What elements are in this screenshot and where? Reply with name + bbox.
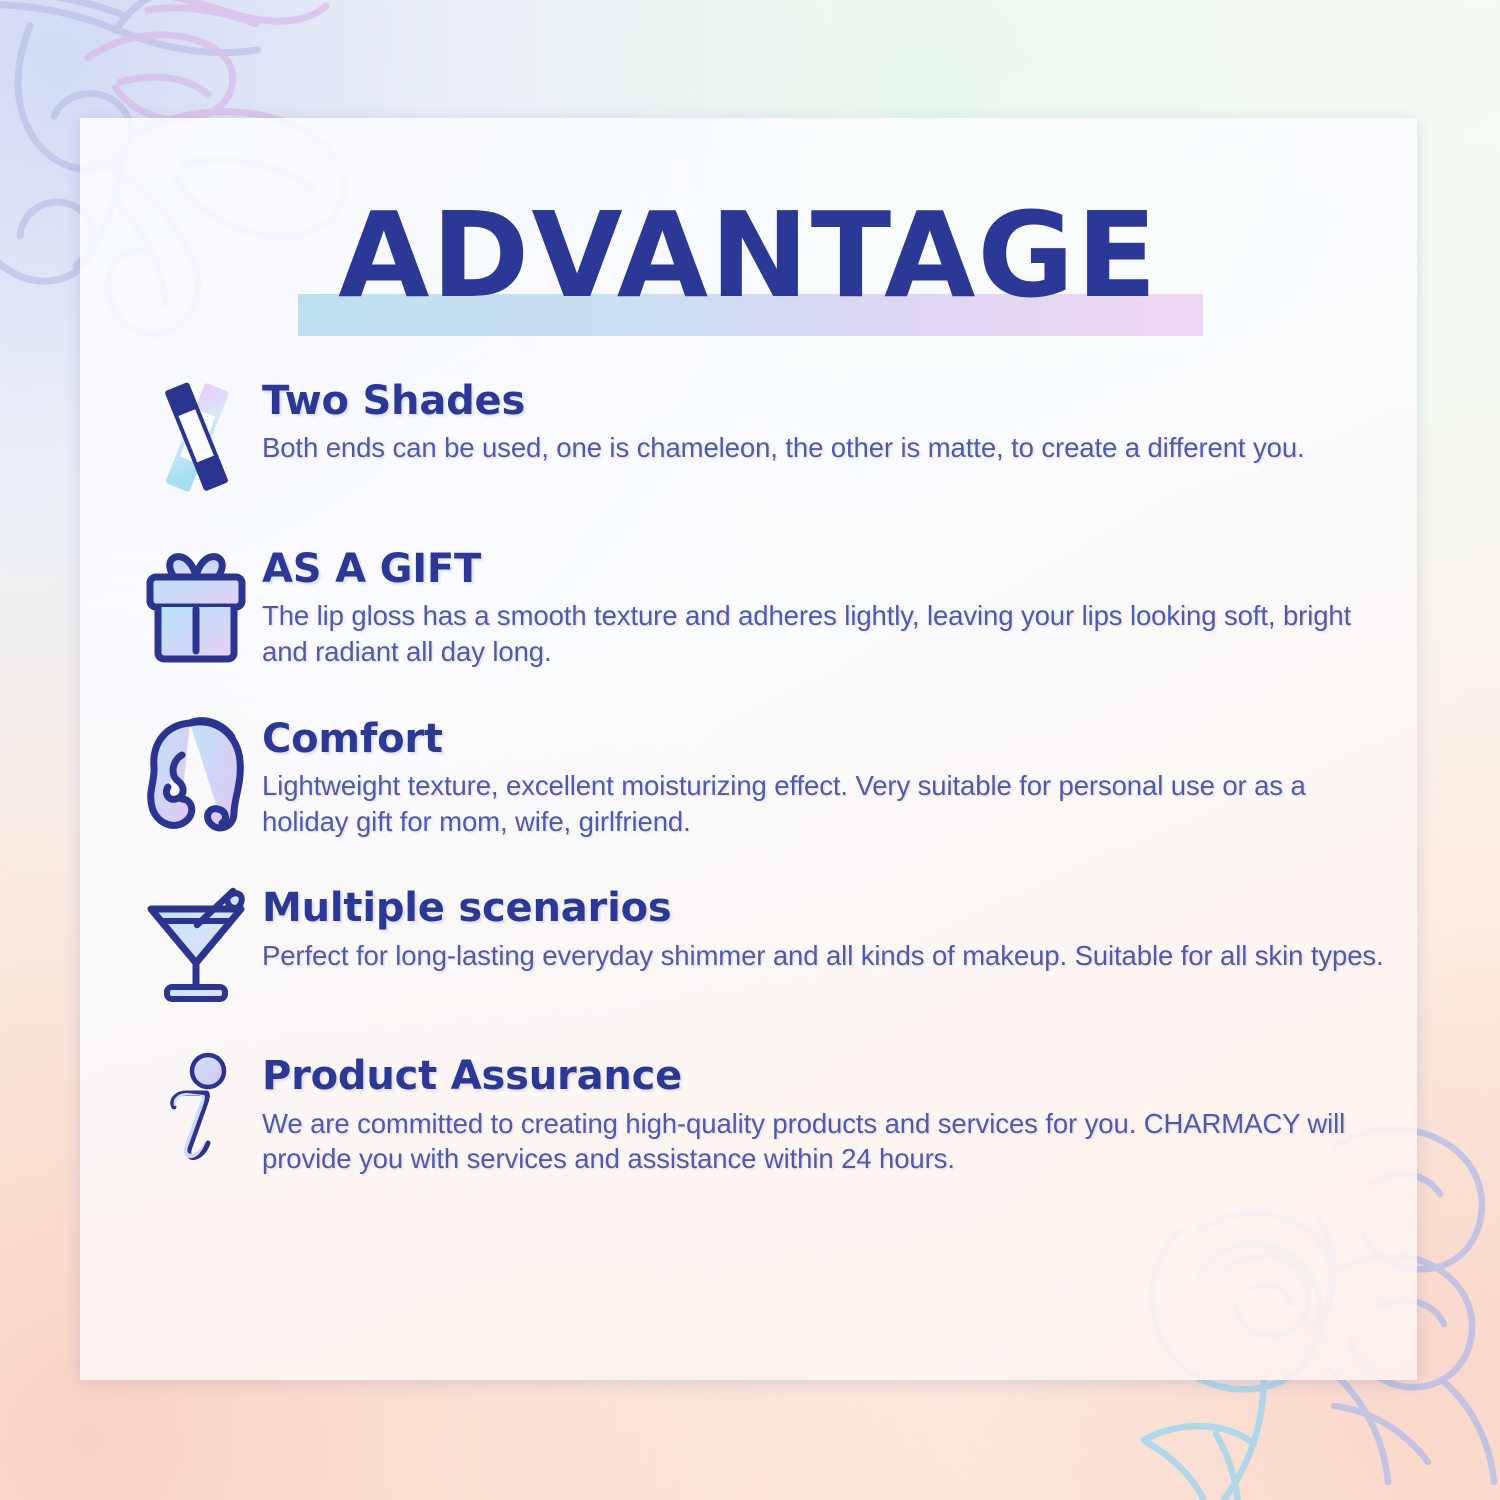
infographic-canvas: ADVANTAGE [0, 0, 1500, 1500]
feature-text-product-assurance: Product Assurance We are committed to cr… [262, 1051, 1417, 1177]
feature-title: Product Assurance [262, 1055, 1407, 1098]
feature-description: The lip gloss has a smooth texture and a… [262, 598, 1392, 670]
gift-box-icon [130, 544, 262, 668]
feature-description: Perfect for long-lasting everyday shimme… [262, 938, 1392, 974]
feature-text-multiple-scenarios: Multiple scenarios Perfect for long-last… [262, 883, 1417, 973]
woman-hair-icon [130, 714, 262, 838]
feature-list: Two Shades Both ends can be used, one is… [80, 376, 1417, 1221]
feature-description: We are committed to creating high-qualit… [262, 1106, 1392, 1178]
page-title-wrapper: ADVANTAGE [80, 196, 1417, 314]
feature-item-as-a-gift: AS A GIFT The lip gloss has a smooth tex… [80, 544, 1417, 670]
feature-description: Lightweight texture, excellent moisturiz… [262, 768, 1392, 840]
crossed-lipsticks-icon [130, 376, 262, 500]
feature-title: AS A GIFT [262, 548, 1407, 591]
feature-text-comfort: Comfort Lightweight texture, excellent m… [262, 714, 1417, 840]
feature-item-product-assurance: Product Assurance We are committed to cr… [80, 1051, 1417, 1177]
info-italic-i-icon [130, 1051, 262, 1175]
feature-title: Comfort [262, 718, 1407, 761]
feature-title: Multiple scenarios [262, 887, 1407, 930]
feature-item-multiple-scenarios: Multiple scenarios Perfect for long-last… [80, 883, 1417, 1007]
feature-text-two-shades: Two Shades Both ends can be used, one is… [262, 376, 1417, 466]
feature-text-as-a-gift: AS A GIFT The lip gloss has a smooth tex… [262, 544, 1417, 670]
feature-item-comfort: Comfort Lightweight texture, excellent m… [80, 714, 1417, 840]
page-title: ADVANTAGE [338, 186, 1159, 324]
feature-title: Two Shades [262, 380, 1407, 423]
advantage-card: ADVANTAGE [80, 118, 1417, 1380]
feature-description: Both ends can be used, one is chameleon,… [262, 430, 1392, 466]
feature-item-two-shades: Two Shades Both ends can be used, one is… [80, 376, 1417, 500]
cocktail-glass-icon [130, 883, 262, 1007]
